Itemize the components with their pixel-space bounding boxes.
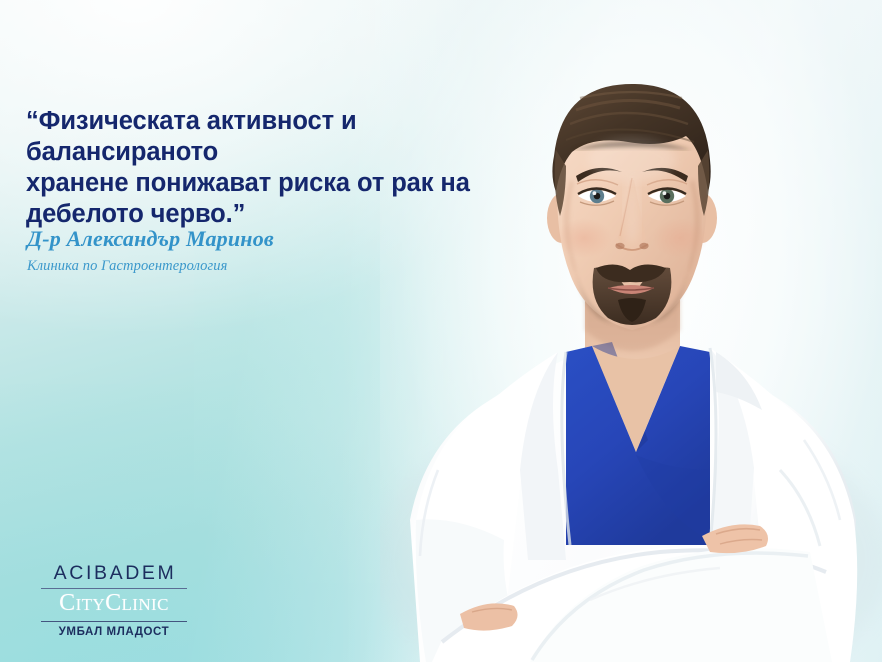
quote-text: “Физическата активност и балансираното х… xyxy=(26,106,536,230)
logo-brand-acibadem: ACIBADEM xyxy=(41,562,187,584)
acibadem-city-clinic-logo: ACIBADEM CityClinic УМБАЛ МЛАДОСТ xyxy=(41,562,187,640)
logo-sub-brand-cityclinic: CityClinic xyxy=(41,590,187,617)
doctor-name: Д-р Александър Маринов xyxy=(27,226,274,252)
doctor-photo xyxy=(380,0,882,662)
logo-facility-name: УМБАЛ МЛАДОСТ xyxy=(41,625,187,640)
doctor-department: Клиника по Гастроентерология xyxy=(27,257,274,276)
attribution: Д-р Александър Маринов Клиника по Гастро… xyxy=(27,226,274,276)
logo-divider-bottom xyxy=(41,621,187,622)
quote-card: “Физическата активност и балансираното х… xyxy=(0,0,882,662)
doctor-portrait-illustration xyxy=(380,0,882,662)
logo-divider-top xyxy=(41,588,187,589)
